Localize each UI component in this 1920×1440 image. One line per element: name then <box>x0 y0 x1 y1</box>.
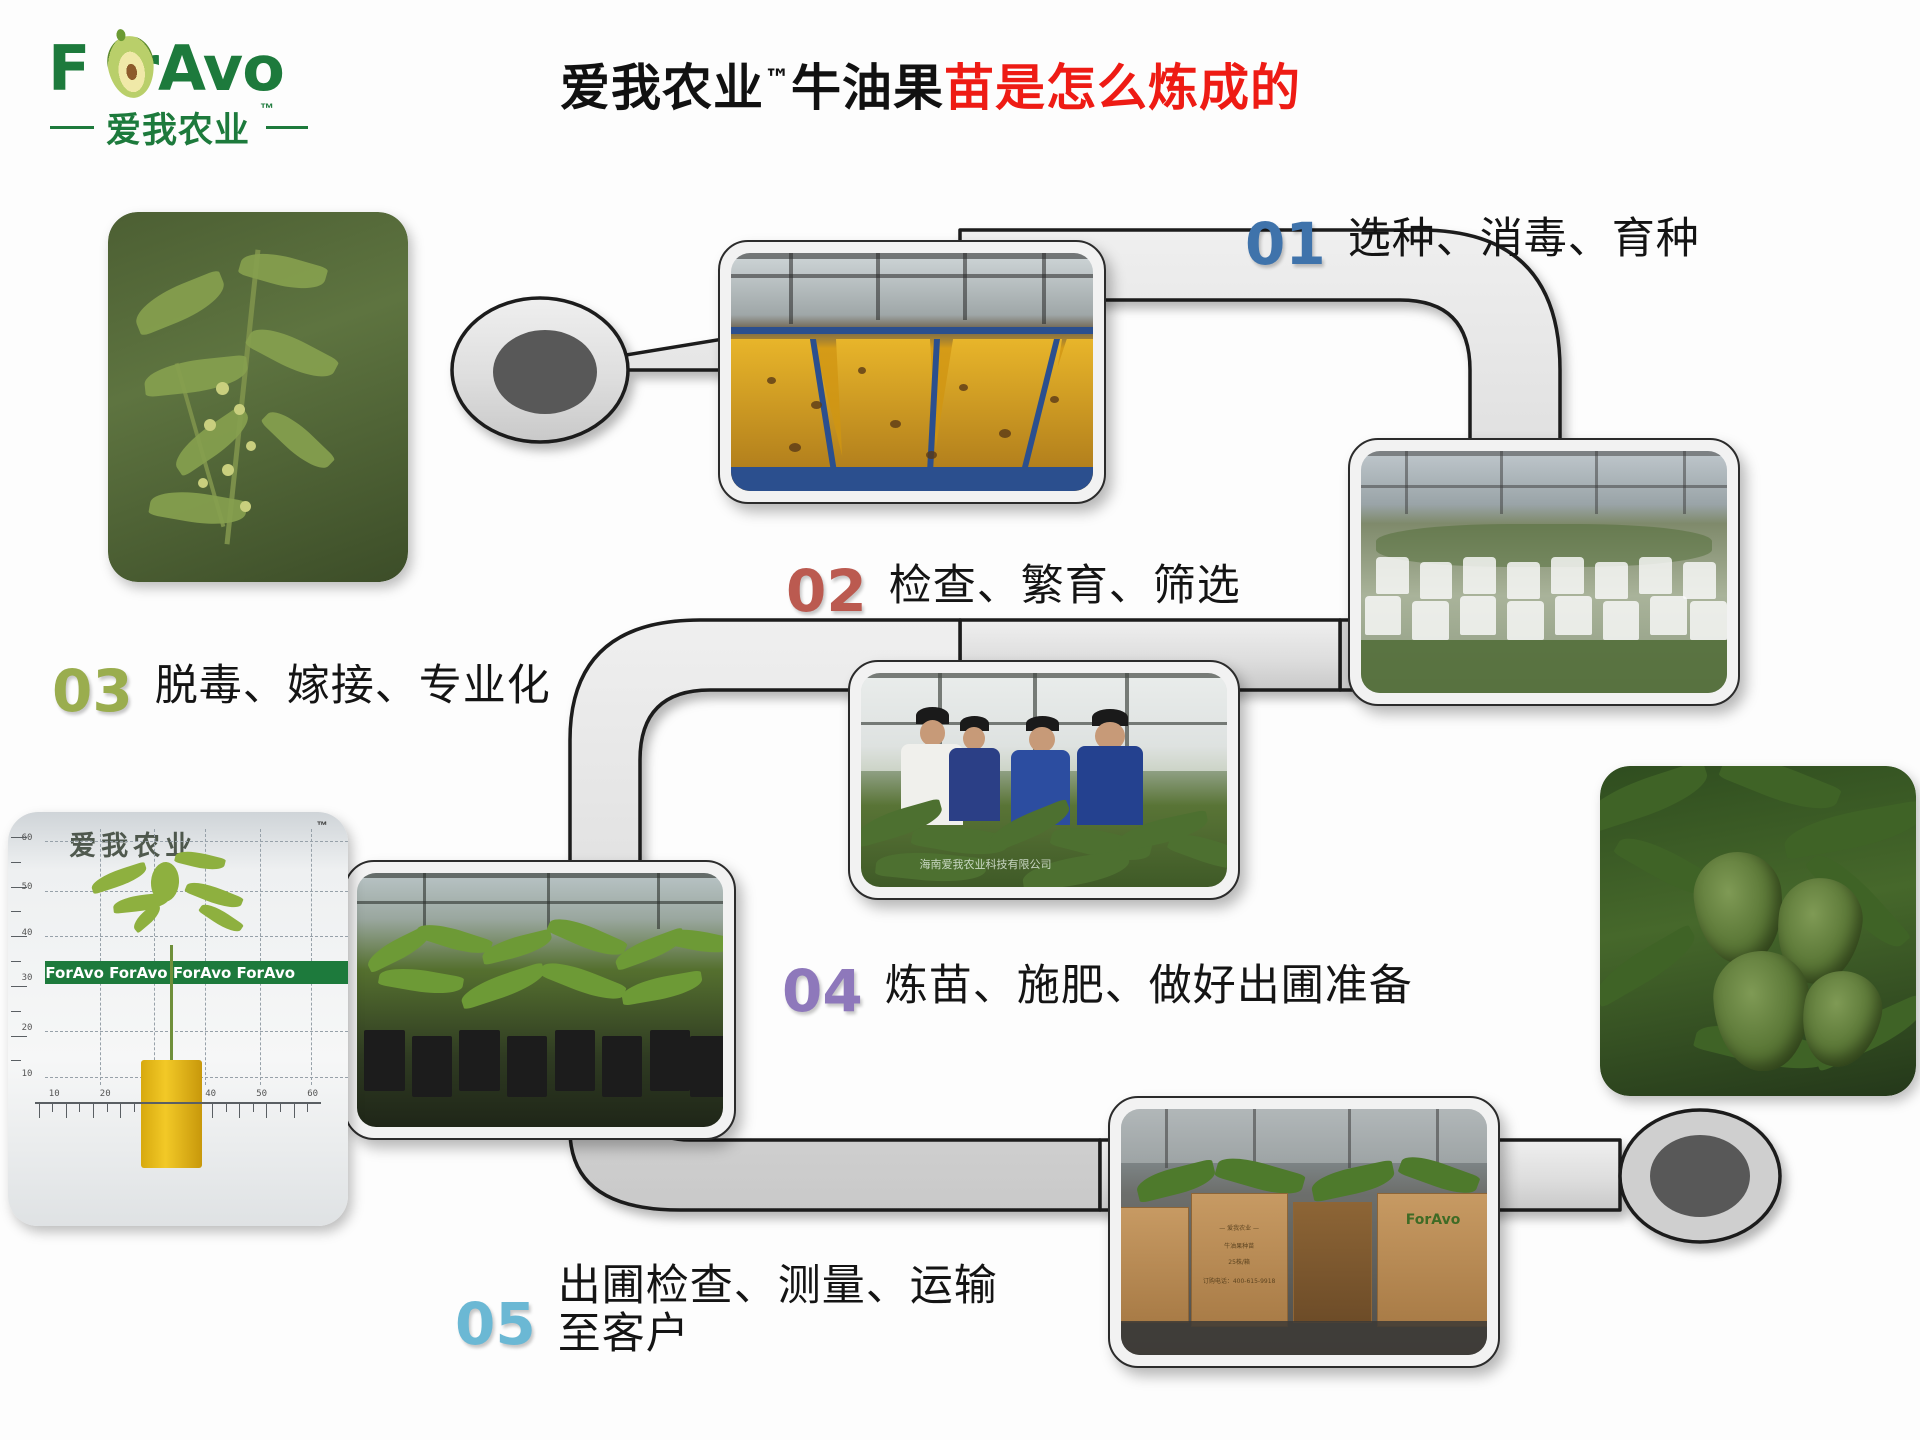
logo-subtitle: 爱我农业 ™ <box>48 102 338 146</box>
logo-trademark-mark: ™ <box>260 100 274 116</box>
brand-logo[interactable]: ForAvo 爱我农业 ™ <box>48 32 338 147</box>
step-02-label: 检查、繁育、筛选 <box>889 562 1241 610</box>
step-03-label: 脱毒、嫁接、专业化 <box>155 662 551 710</box>
step-05-label-line2: 至客户 <box>558 1310 998 1358</box>
ruler-brand-tm: ™ <box>317 820 328 832</box>
seedling-pot <box>141 1060 202 1168</box>
step-01-number: 01 <box>1245 215 1326 273</box>
photo-seed-trays-greenhouse <box>718 240 1106 504</box>
ruler-brand-band: ForAvo ForAvo ForAvo ForAvo <box>45 961 348 984</box>
infographic-canvas: ForAvo 爱我农业 ™ 爱我农业™牛油果苗是怎么炼成的 <box>0 0 1920 1440</box>
photo-watermark: 海南爱我农业科技有限公司 <box>920 856 1052 872</box>
box-label-line4: 订购电话：400-615-9918 <box>1192 1276 1287 1285</box>
title-brand: 爱我农业 <box>560 59 764 117</box>
photo-potted-seedlings-nursery <box>344 860 736 1140</box>
logo-rule-left <box>50 126 94 129</box>
step-05-label: 出圃检查、测量、运输 至客户 <box>558 1262 998 1358</box>
box-label-line1: — 爱我农业 — <box>1192 1223 1287 1232</box>
step-05: 05 出圃检查、测量、运输 至客户 <box>455 1290 998 1358</box>
title-trademark: ™ <box>764 64 791 94</box>
logo-word-prefix: F <box>48 32 87 105</box>
step-04-number: 04 <box>782 962 863 1020</box>
photo-avocados-on-tree <box>1600 766 1916 1096</box>
step-05-label-line1: 出圃检查、测量、运输 <box>558 1262 998 1310</box>
step-02-number: 02 <box>786 562 867 620</box>
title-product: 牛油果 <box>791 59 944 117</box>
logo-rule-right <box>266 126 308 129</box>
photo-ruler-measurement-board: 爱我农业 ™ 60 50 40 30 20 10 10 <box>8 812 348 1226</box>
start-cap-dot <box>493 330 597 414</box>
box-label-line2: 牛油果种苗 <box>1192 1241 1287 1250</box>
box-label-line3: 25株/箱 <box>1192 1257 1287 1266</box>
title-highlight: 苗是怎么炼成的 <box>944 59 1301 117</box>
step-05-number: 05 <box>455 1295 536 1353</box>
photo-packing-boxes-shipment: — 爱我农业 — 牛油果种苗 25株/箱 订购电话：400-615-9918 F… <box>1108 1096 1500 1368</box>
step-02: 02 检查、繁育、筛选 <box>786 562 1241 620</box>
logo-wordmark: ForAvo <box>48 32 338 104</box>
step-01: 01 选种、消毒、育种 <box>1245 215 1700 273</box>
step-03: 03 脱毒、嫁接、专业化 <box>52 662 551 720</box>
box-side-brand: ForAvo <box>1378 1212 1487 1228</box>
step-04-label: 炼苗、施肥、做好出圃准备 <box>885 962 1413 1010</box>
photo-greenhouse-bagged-plants <box>1348 438 1740 706</box>
step-03-number: 03 <box>52 662 133 720</box>
photo-staff-inspecting-seedlings: 海南爱我农业科技有限公司 <box>848 660 1240 900</box>
step-04: 04 炼苗、施肥、做好出圃准备 <box>782 962 1413 1020</box>
logo-chinese-name: 爱我农业 <box>106 102 250 153</box>
page-title: 爱我农业™牛油果苗是怎么炼成的 <box>560 48 1620 120</box>
step-01-label: 选种、消毒、育种 <box>1348 215 1700 263</box>
end-cap-dot <box>1650 1135 1750 1217</box>
photo-flowering-branch <box>108 212 408 582</box>
